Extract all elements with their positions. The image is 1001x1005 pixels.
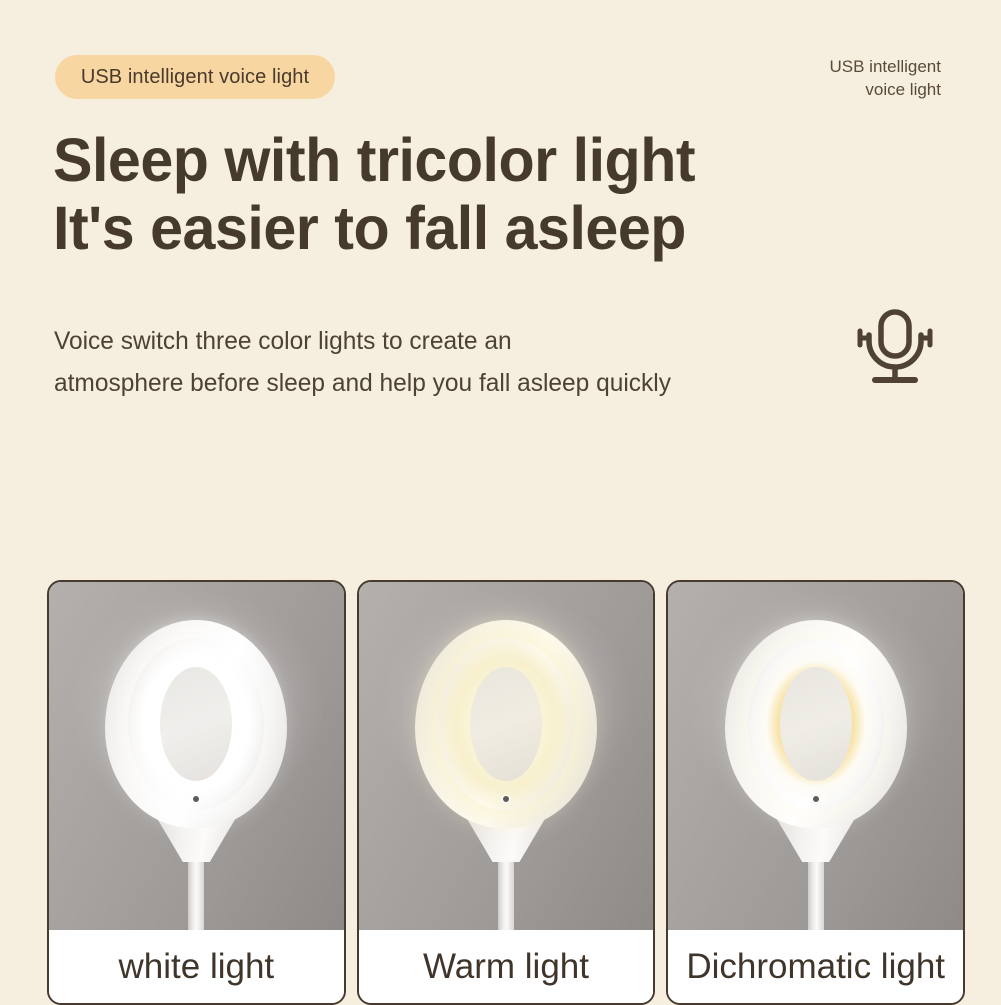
product-cards: white light Warm light — [47, 580, 965, 1005]
lamp-ring-center — [160, 667, 232, 781]
ring-lamp — [412, 620, 600, 930]
subtitle-line-1: Voice switch three color lights to creat… — [54, 320, 848, 362]
product-card-caption-label: white light — [119, 947, 275, 987]
product-banner: USB intelligent voice light USB intellig… — [0, 0, 1001, 1001]
product-card-dichromatic-light[interactable]: Dichromatic light — [666, 580, 965, 1005]
microphone-icon — [853, 307, 937, 389]
corner-label-line-2: voice light — [829, 79, 941, 102]
product-photo — [668, 582, 963, 930]
product-badge: USB intelligent voice light — [55, 55, 335, 99]
lamp-sensor-dot — [503, 796, 509, 802]
corner-label-line-1: USB intelligent — [829, 56, 941, 79]
product-card-caption: Dichromatic light — [668, 930, 963, 1003]
product-badge-label: USB intelligent voice light — [81, 66, 309, 89]
subtitle: Voice switch three color lights to creat… — [54, 320, 848, 404]
ring-lamp — [722, 620, 910, 930]
subtitle-line-2: atmosphere before sleep and help you fal… — [54, 362, 848, 404]
headline-line-2: It's easier to fall asleep — [53, 194, 695, 262]
product-photo — [359, 582, 654, 930]
product-card-caption: Warm light — [359, 930, 654, 1003]
corner-product-label: USB intelligent voice light — [829, 56, 941, 102]
lamp-ring-center — [780, 667, 852, 781]
product-photo — [49, 582, 344, 930]
ring-lamp — [102, 620, 290, 930]
product-card-warm-light[interactable]: Warm light — [357, 580, 656, 1005]
headline: Sleep with tricolor light It's easier to… — [53, 126, 695, 262]
lamp-sensor-dot — [813, 796, 819, 802]
product-card-caption: white light — [49, 930, 344, 1003]
product-card-caption-label: Warm light — [423, 947, 589, 987]
lamp-ring-center — [470, 667, 542, 781]
product-card-caption-label: Dichromatic light — [686, 947, 945, 987]
product-card-white-light[interactable]: white light — [47, 580, 346, 1005]
headline-line-1: Sleep with tricolor light — [53, 126, 695, 194]
